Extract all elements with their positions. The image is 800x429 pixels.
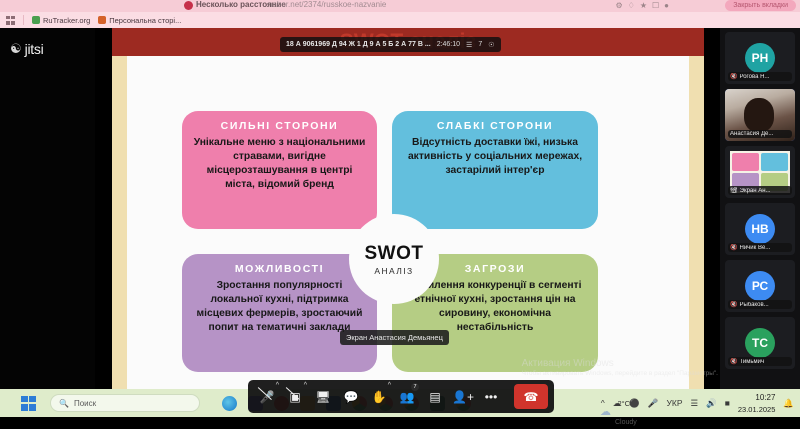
participant-nameplate: 🔇 Рыбаков... <box>728 300 792 309</box>
jitsi-toolbar[interactable]: 🎤 ^ ▣ ^ 🖥 💬 ✋ ^ 👥 7 ▤ 👤+ ••• <box>248 380 554 413</box>
participant-name: Ничик Ве... <box>739 245 770 251</box>
more-dots-icon: ••• <box>485 390 498 404</box>
participant-nameplate: 🔇 Рогова Н... <box>728 72 792 81</box>
quadrant-heading: СИЛЬНІ СТОРОНИ <box>192 120 367 132</box>
jitsi-meeting-app: ☯ jitsi SWOT аналіз СИЛЬНІ СТОРОНИ Уніка… <box>0 28 800 389</box>
invite-person-icon: 👤+ <box>452 390 474 404</box>
screen-share-icon: 🖥 <box>315 390 330 404</box>
windows-activation-watermark: Активация Windows Чтобы активировать Win… <box>522 358 718 378</box>
volume-icon[interactable]: 🔊 <box>706 398 717 409</box>
quadrant-body: Зростання популярності локальної кухні, … <box>192 279 367 335</box>
mic-muted-icon: 🔇 <box>730 244 737 251</box>
swot-center-title: SWOT <box>365 243 424 265</box>
participant-tile-rogova[interactable]: РН 🔇 Рогова Н... <box>725 32 795 84</box>
overlay-participant-count: 7 <box>478 41 482 48</box>
shared-screen-stage[interactable]: SWOT аналіз СИЛЬНІ СТОРОНИ Унікальне мен… <box>95 28 720 389</box>
avatar: РС <box>745 271 775 301</box>
mic-muted-icon: 🔇 <box>730 301 737 308</box>
participants-button[interactable]: 👥 7 <box>394 384 420 409</box>
rutracker-icon <box>32 16 40 24</box>
browser-profile-pill[interactable]: Закрыть вкладки <box>725 0 796 11</box>
participant-tile-anastasia[interactable]: Анастасия Де... <box>725 89 795 141</box>
show-hidden-icons-chevron[interactable]: ^ <box>601 398 605 408</box>
tile-view-button[interactable]: ▤ <box>422 384 448 409</box>
quadrant-body: Відсутність доставки їжі, низька активні… <box>402 136 588 178</box>
swot-quadrant-weaknesses: СЛАБКІ СТОРОНИ Відсутність доставки їжі,… <box>392 111 598 229</box>
security-icon[interactable]: ☉ <box>488 41 494 49</box>
activation-title: Активация Windows <box>522 358 718 369</box>
participant-nameplate: Анастасия Де... <box>728 130 792 138</box>
bookmark-label: Персональна сторі... <box>109 16 181 25</box>
jitsi-mark-icon: ☯ <box>10 41 22 57</box>
battery-icon[interactable]: ■ <box>725 398 730 408</box>
tab-favicon <box>184 1 193 10</box>
swot-center-subtitle: АНАЛІЗ <box>374 266 413 276</box>
chat-button[interactable]: 💬 <box>338 384 364 409</box>
avatar: РН <box>745 43 775 73</box>
participant-tile-screen-share[interactable]: 📽 Экран Ан... <box>725 146 795 198</box>
avatar: НВ <box>745 214 775 244</box>
weather-condition: Cloudy <box>615 419 637 426</box>
mic-muted-icon: 🔇 <box>730 358 737 365</box>
meeting-timer: 2:46:10 <box>437 41 460 48</box>
avatar: ТС <box>745 328 775 358</box>
microphone-tray-icon[interactable]: 🎤 <box>648 398 659 409</box>
meeting-name: 18 А 9061969 Д 94 Ж 1 Д 9 А 5 Б 2 А 77 В… <box>286 41 431 48</box>
search-placeholder: Поиск <box>74 399 96 408</box>
phone-hangup-icon: ☎ <box>524 390 539 404</box>
raise-hand-icon: ✋ <box>372 390 387 404</box>
camera-button[interactable]: ▣ ^ <box>282 384 308 409</box>
quadrant-body: Посилення конкуренції в сегменті етнічно… <box>402 279 588 335</box>
invite-button[interactable]: 👤+ <box>450 384 476 409</box>
chat-icon: 💬 <box>344 390 359 404</box>
jitsi-logo-text: jitsi <box>25 41 44 57</box>
participant-name: Анастасия Де... <box>730 131 773 137</box>
chevron-up-icon[interactable]: ^ <box>276 382 279 389</box>
participant-nameplate: 🔇 Ничик Ве... <box>728 243 792 252</box>
swot-center-circle: SWOT АНАЛІЗ <box>349 214 439 304</box>
more-options-button[interactable]: ••• <box>478 384 504 409</box>
presenter-screen-label: Экран Анастасия Демьянец <box>340 330 449 345</box>
bookmark-personal-page[interactable]: Персональна сторі... <box>98 16 181 25</box>
apps-grid-icon[interactable] <box>6 16 15 25</box>
raise-hand-button[interactable]: ✋ ^ <box>366 384 392 409</box>
participant-nameplate: 🔇 Тимьмич <box>728 357 792 366</box>
connection-quality-icon[interactable]: ☰ <box>466 41 472 49</box>
share-screen-button[interactable]: 🖥 <box>310 384 336 409</box>
screen-share-icon: 📽 <box>730 187 738 194</box>
clock-date: 23.01.2025 <box>738 405 776 414</box>
search-input[interactable]: 🔍 Поиск <box>50 394 200 412</box>
participant-name: Рыбаков... <box>739 302 768 308</box>
mic-muted-icon: 🔇 <box>730 73 737 80</box>
bookmark-label: RuTracker.org <box>43 16 90 25</box>
meeting-info-overlay[interactable]: 18 А 9061969 Д 94 Ж 1 Д 9 А 5 Б 2 А 77 В… <box>280 37 501 52</box>
swot-quadrant-strengths: СИЛЬНІ СТОРОНИ Унікальне меню з націонал… <box>182 111 377 229</box>
participant-tile-rybakov[interactable]: РС 🔇 Рыбаков... <box>725 260 795 312</box>
language-indicator[interactable]: УКР <box>666 398 682 408</box>
jitsi-logo: ☯ jitsi <box>10 41 43 57</box>
activation-subtitle: Чтобы активировать Windows, перейдите в … <box>522 369 718 378</box>
clock-time: 10:27 <box>755 393 775 402</box>
browser-tab-url: nabor.net/2374/russkoe-nazvanie <box>268 0 386 9</box>
chevron-up-icon[interactable]: ^ <box>304 382 307 389</box>
taskbar-clock[interactable]: 10:27 23.01.2025 <box>738 391 776 415</box>
tile-view-icon: ▤ <box>429 390 440 404</box>
wifi-icon[interactable]: ☰ <box>691 398 699 409</box>
onedrive-icon[interactable]: ☁ <box>613 398 622 409</box>
browser-chrome: Несколько расстояние nabor.net/2374/russ… <box>0 0 800 28</box>
participant-nameplate: 📽 Экран Ан... <box>728 186 792 195</box>
notifications-icon[interactable]: 🔔 <box>783 398 794 409</box>
chevron-up-icon[interactable]: ^ <box>388 382 391 389</box>
participants-count-badge: 7 <box>411 383 419 391</box>
microphone-button[interactable]: 🎤 ^ <box>254 384 280 409</box>
browser-tabstrip[interactable]: Несколько расстояние nabor.net/2374/russ… <box>0 0 800 12</box>
system-tray[interactable]: ^ ☁ ⚫ 🎤 УКР ☰ 🔊 ■ 10:27 23.01.2025 🔔 <box>601 389 794 417</box>
bookmark-divider <box>23 15 24 25</box>
antivirus-icon[interactable]: ⚫ <box>629 398 640 409</box>
edge-icon[interactable] <box>222 396 237 411</box>
participant-tile-nichik[interactable]: НВ 🔇 Ничик Ве... <box>725 203 795 255</box>
swot-quadrant-opportunities: МОЖЛИВОСТІ Зростання популярності локаль… <box>182 254 377 372</box>
start-button[interactable] <box>21 396 36 411</box>
browser-toolbar-icons[interactable]: ⚙♢★☐● <box>615 1 674 10</box>
hangup-button[interactable]: ☎ <box>514 384 548 409</box>
participant-tile-timmich[interactable]: ТС 🔇 Тимьмич <box>725 317 795 369</box>
page-icon <box>98 16 106 24</box>
quadrant-heading: СЛАБКІ СТОРОНИ <box>402 120 588 132</box>
participants-filmstrip[interactable]: РН 🔇 Рогова Н... Анастасия Де... 📽 Экран… <box>720 28 800 389</box>
quadrant-heading: МОЖЛИВОСТІ <box>192 263 367 275</box>
participants-icon: 👥 <box>400 390 415 404</box>
quadrant-body: Унікальне меню з національними стравами,… <box>192 136 367 192</box>
search-icon: 🔍 <box>59 399 69 408</box>
bookmark-rutracker[interactable]: RuTracker.org <box>32 16 90 25</box>
participant-name: Тимьмич <box>739 359 764 365</box>
bookmarks-bar: RuTracker.org Персональна сторі... <box>0 12 800 28</box>
participant-name: Экран Ан... <box>740 188 771 194</box>
participant-name: Рогова Н... <box>739 74 769 80</box>
